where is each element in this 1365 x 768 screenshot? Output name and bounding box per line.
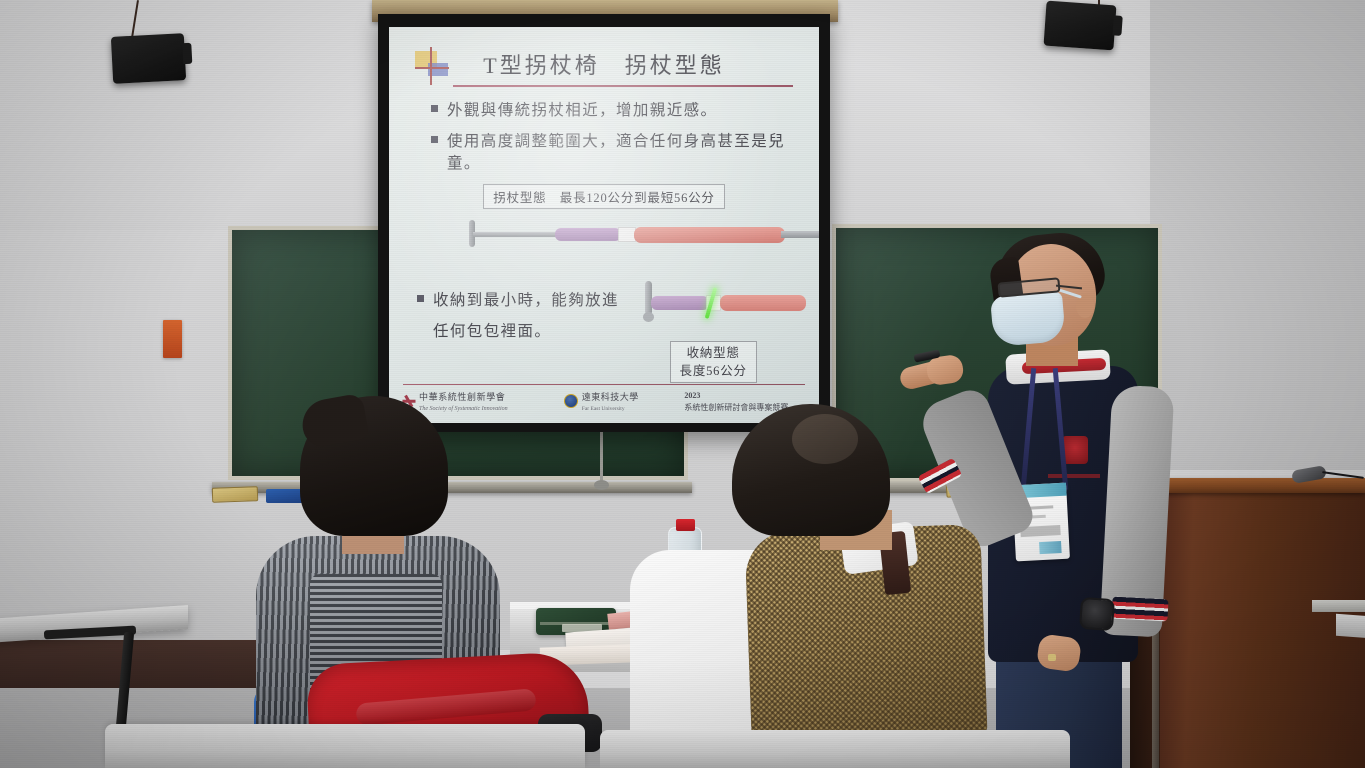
slide-bullet-2: 使用高度調整範圍大，適合任何身高甚至是兒童。: [431, 129, 799, 173]
university-seal-icon: [564, 394, 578, 408]
slide-title-rule: [453, 85, 793, 87]
finger-ring: [1048, 654, 1056, 661]
audience-right-crown: [792, 414, 858, 464]
audience-member-left: [246, 396, 546, 736]
caption-compact-wrap: 收納型態 長度56公分: [627, 341, 799, 383]
podium-shelf: [1312, 600, 1365, 612]
caption-extended: 拐杖型態 最長120公分到最短56公分: [483, 184, 724, 209]
foreground-table-bottom-right: [600, 730, 1070, 768]
slide-lower-left: 收納到最小時，能夠放進 任何包包裡面。: [409, 279, 627, 383]
slide-header: T型拐杖椅 拐杖型態: [409, 45, 799, 89]
screen-surface: T型拐杖椅 拐杖型態 外觀與傳統拐杖相近，增加親近感。 使用高度調整範圍大，適合…: [389, 27, 819, 423]
crutch-extended-diagram: [409, 213, 799, 257]
caption-compact-line1: 收納型態: [687, 346, 740, 360]
slide-title: T型拐杖椅 拐杖型態: [409, 45, 799, 80]
screen-hanging-cord: [600, 432, 603, 484]
jacket-crest-icon: [1062, 436, 1088, 464]
bullet-square-icon: [431, 136, 438, 143]
classroom-scene: T型拐杖椅 拐杖型態 外觀與傳統拐杖相近，增加親近感。 使用高度調整範圍大，適合…: [0, 0, 1365, 768]
wristwatch: [1079, 597, 1115, 631]
slide-lower-row: 收納到最小時，能夠放進 任何包包裡面。: [409, 279, 799, 383]
caption-compact-line2: 長度56公分: [680, 364, 747, 378]
foreground-table-bottom-left: [105, 724, 585, 768]
university-name-en: Far East University: [582, 406, 625, 412]
slide-bullet-1-text: 外觀與傳統拐杖相近，增加親近感。: [447, 98, 717, 120]
caption-compact: 收納型態 長度56公分: [670, 341, 757, 383]
speaker-left-icon: [111, 33, 186, 84]
slide-lower-right: 收納型態 長度56公分: [627, 279, 799, 383]
screen-pull-knob[interactable]: [594, 480, 609, 490]
jacket-crest-banner: [1048, 474, 1100, 478]
presentation-slide: T型拐杖椅 拐杖型態 外觀與傳統拐杖相近，增加親近感。 使用高度調整範圍大，適合…: [389, 27, 819, 423]
wall-notice-sign: [163, 320, 182, 358]
slide-bullet-4-text: 任何包包裡面。: [433, 319, 551, 341]
slide-logo-mark-icon: [415, 47, 449, 85]
slide-bullet-1: 外觀與傳統拐杖相近，增加親近感。: [431, 98, 799, 120]
slide-bullet-4: 任何包包裡面。: [433, 319, 627, 341]
presenter-right-cuff: [1111, 597, 1168, 622]
slide-bullet-2-text: 使用高度調整範圍大，適合任何身高甚至是兒童。: [447, 129, 799, 173]
crutch-compact-diagram: [627, 279, 799, 339]
slide-bullet-3: 收納到最小時，能夠放進: [417, 288, 627, 310]
audience-member-right: [624, 400, 1024, 740]
projection-screen: T型拐杖椅 拐杖型態 外觀與傳統拐杖相近，增加親近感。 使用高度調整範圍大，適合…: [378, 14, 830, 432]
bullet-square-icon: [417, 295, 424, 302]
bullet-square-icon: [431, 105, 438, 112]
caption-extended-wrap: 拐杖型態 最長120公分到最短56公分: [409, 184, 799, 209]
slide-bullet-3-text: 收納到最小時，能夠放進: [433, 288, 619, 310]
speaker-right-icon: [1044, 1, 1117, 51]
